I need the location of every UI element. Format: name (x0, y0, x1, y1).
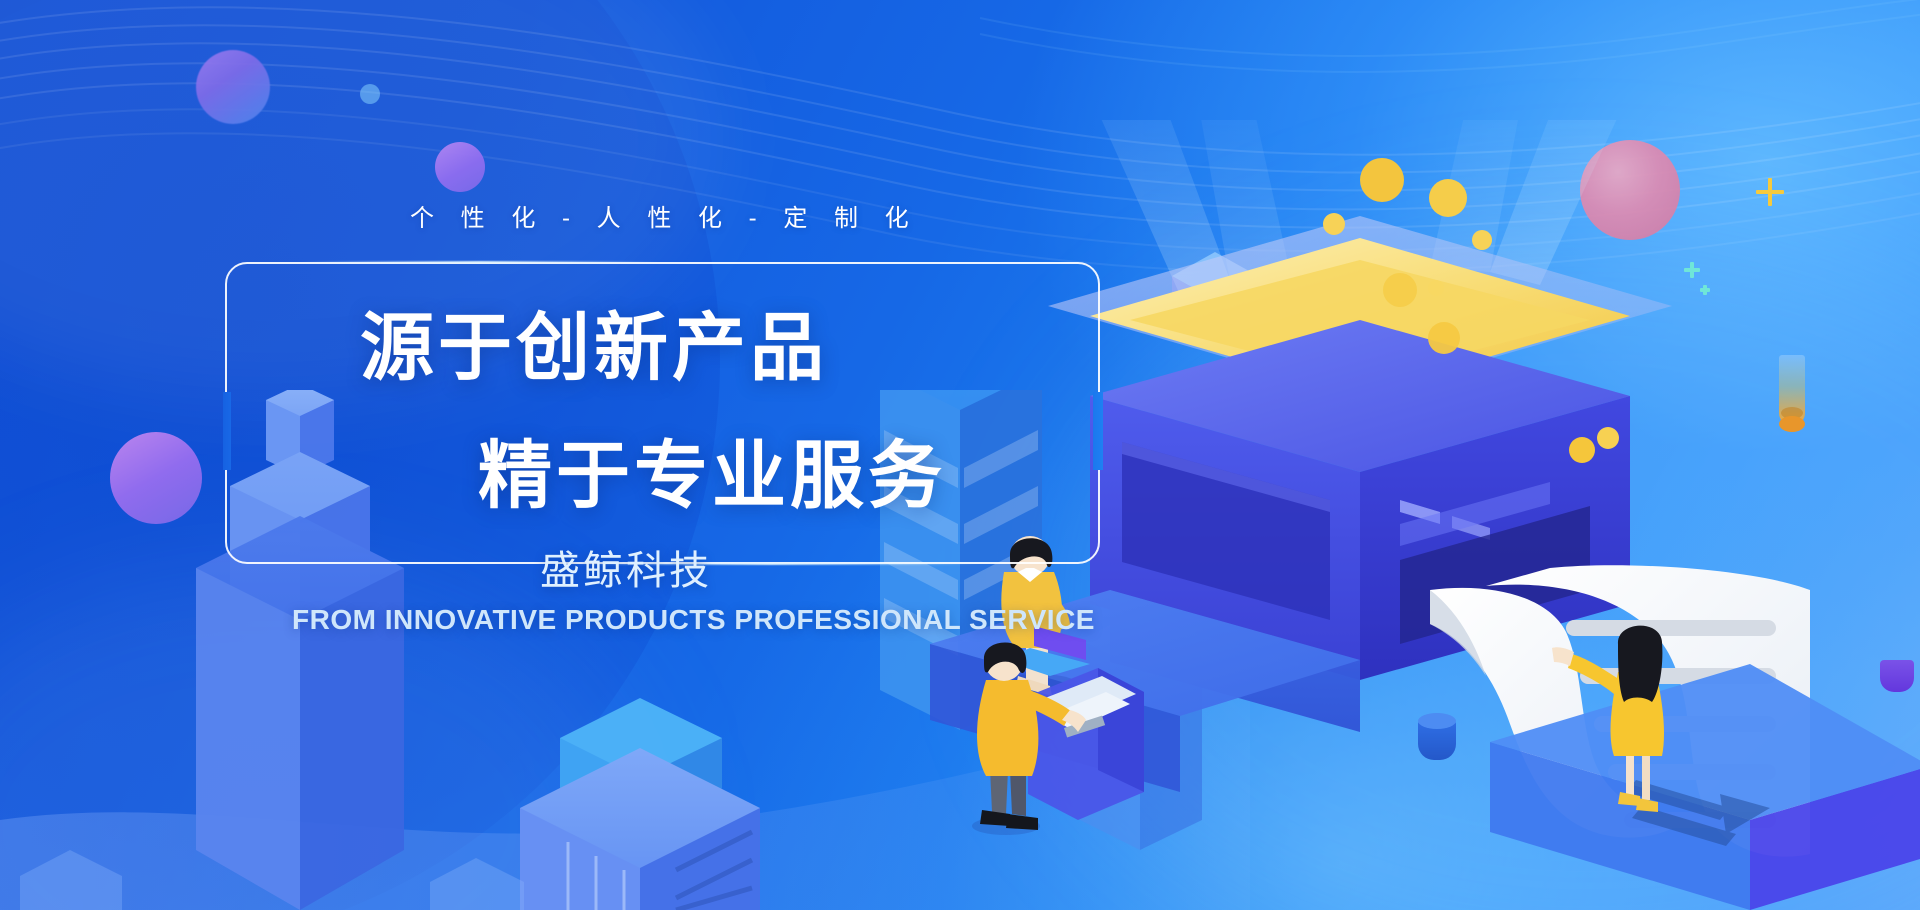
hero-banner: 个 性 化 - 人 性 化 - 定 制 化 源于创新产品 精于专业服务 盛鲸科技… (0, 0, 1920, 910)
yellow-plus-icon (1756, 178, 1784, 206)
teal-plus-icon (1684, 262, 1700, 278)
tagline-text: 个 性 化 - 人 性 化 - 定 制 化 (410, 198, 919, 233)
frame-gap-left (223, 392, 231, 470)
teal-plus-icon-small (1700, 285, 1710, 295)
yellow-ring-icon (1259, 334, 1279, 354)
character-woman-receiving (1552, 626, 1664, 812)
headline-line-2: 精于专业服务 (478, 416, 946, 523)
frame-gap-right (1093, 392, 1103, 470)
pink-sphere (1580, 140, 1680, 240)
blue-cylinder-icon (1418, 720, 1456, 760)
paper-printout (1430, 565, 1810, 856)
purple-cylinder-icon (1880, 660, 1914, 692)
text-content-block: 个 性 化 - 人 性 化 - 定 制 化 源于创新产品 精于专业服务 盛鲸科技… (0, 0, 1200, 910)
company-name: 盛鲸科技 (540, 538, 712, 596)
orange-tube-icon (1779, 355, 1805, 425)
english-subtitle: FROM INNOVATIVE PRODUCTS PROFESSIONAL SE… (292, 604, 1095, 636)
headline-line-1: 源于创新产品 (360, 288, 828, 395)
